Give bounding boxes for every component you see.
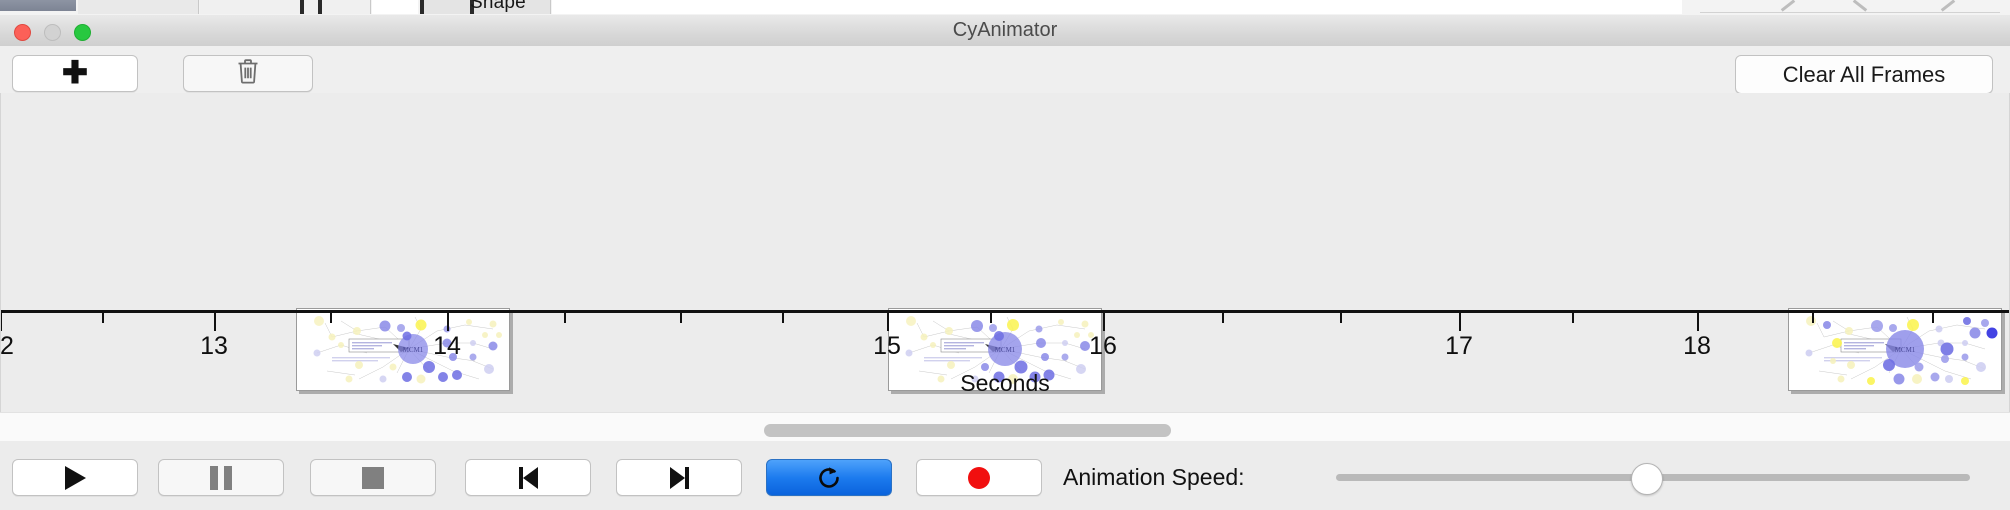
timeline-axis-line bbox=[0, 310, 2010, 313]
background-mark bbox=[420, 0, 424, 14]
skip-to-start-button[interactable] bbox=[465, 459, 591, 496]
axis-tick-minor bbox=[102, 313, 104, 323]
add-frame-button[interactable]: ✚ bbox=[12, 55, 138, 92]
window-titlebar: CyAnimator bbox=[0, 15, 2010, 47]
background-tab-selected bbox=[0, 0, 76, 11]
axis-tick-minor bbox=[1222, 313, 1224, 323]
axis-tick-minor bbox=[564, 313, 566, 323]
skip-to-end-button[interactable] bbox=[616, 459, 742, 496]
skip-to-start-icon bbox=[519, 467, 538, 489]
play-button[interactable] bbox=[12, 459, 138, 496]
axis-tick-label: 18 bbox=[1683, 332, 1711, 361]
play-icon bbox=[65, 466, 86, 490]
background-mark bbox=[1941, 0, 1955, 12]
background-mark bbox=[318, 0, 322, 14]
axis-tick-minor bbox=[1812, 313, 1814, 323]
background-segment bbox=[372, 0, 418, 14]
axis-tick-label: 14 bbox=[433, 332, 461, 361]
plus-icon: ✚ bbox=[62, 57, 88, 88]
background-segment bbox=[78, 0, 199, 14]
animation-speed-slider-thumb[interactable] bbox=[1631, 463, 1663, 495]
svg-text:MCM1: MCM1 bbox=[1895, 346, 1916, 354]
axis-tick-label: 15 bbox=[873, 332, 901, 361]
background-app-strip: Shape bbox=[0, 0, 2010, 16]
background-segment bbox=[200, 0, 371, 14]
loop-button[interactable] bbox=[766, 459, 892, 496]
axis-tick-minor bbox=[1572, 313, 1574, 323]
skip-to-end-icon bbox=[670, 467, 689, 489]
axis-tick-major bbox=[447, 313, 449, 331]
animation-speed-label: Animation Speed: bbox=[1063, 459, 1245, 496]
pause-button[interactable] bbox=[158, 459, 284, 496]
background-mark bbox=[300, 0, 304, 14]
axis-tick-major bbox=[1459, 313, 1461, 331]
axis-tick-label: 12 bbox=[0, 332, 14, 361]
stop-icon bbox=[362, 467, 384, 489]
stop-button[interactable] bbox=[310, 459, 436, 496]
axis-title: Seconds bbox=[0, 370, 2010, 397]
axis-tick-minor bbox=[990, 313, 992, 323]
scrollbar-thumb[interactable] bbox=[764, 424, 1171, 437]
background-app-label: Shape bbox=[470, 0, 526, 14]
background-divider bbox=[1700, 12, 2000, 13]
record-icon bbox=[968, 467, 990, 489]
background-mark bbox=[1781, 0, 1795, 12]
axis-tick-minor bbox=[782, 313, 784, 323]
panel-border-left bbox=[0, 93, 1, 412]
loop-icon bbox=[815, 464, 843, 492]
axis-tick-minor bbox=[680, 313, 682, 323]
axis-tick-minor bbox=[1932, 313, 1934, 323]
svg-text:MCM1: MCM1 bbox=[995, 346, 1016, 354]
background-mark bbox=[1853, 0, 1867, 12]
delete-frame-button[interactable] bbox=[183, 55, 313, 92]
timeline-panel[interactable]: MCM1 bbox=[0, 93, 2010, 412]
axis-tick-major bbox=[1103, 313, 1105, 331]
axis-tick-label: 17 bbox=[1445, 332, 1473, 361]
axis-tick-label: 13 bbox=[200, 332, 228, 361]
clear-all-frames-button[interactable]: Clear All Frames bbox=[1735, 55, 1993, 94]
background-segment bbox=[552, 0, 1682, 14]
axis-tick-major bbox=[214, 313, 216, 331]
axis-tick-major bbox=[887, 313, 889, 331]
axis-tick-label: 16 bbox=[1089, 332, 1117, 361]
axis-tick-minor bbox=[1340, 313, 1342, 323]
pause-icon bbox=[210, 466, 232, 490]
axis-tick-minor bbox=[330, 313, 332, 323]
record-button[interactable] bbox=[916, 459, 1042, 496]
cyanimator-window: Shape CyAnimator ✚ Clear All Frames bbox=[0, 0, 2010, 510]
trash-icon bbox=[236, 58, 260, 90]
svg-text:MCM1: MCM1 bbox=[403, 346, 424, 354]
window-title: CyAnimator bbox=[0, 15, 2010, 46]
axis-tick-major bbox=[1697, 313, 1699, 331]
